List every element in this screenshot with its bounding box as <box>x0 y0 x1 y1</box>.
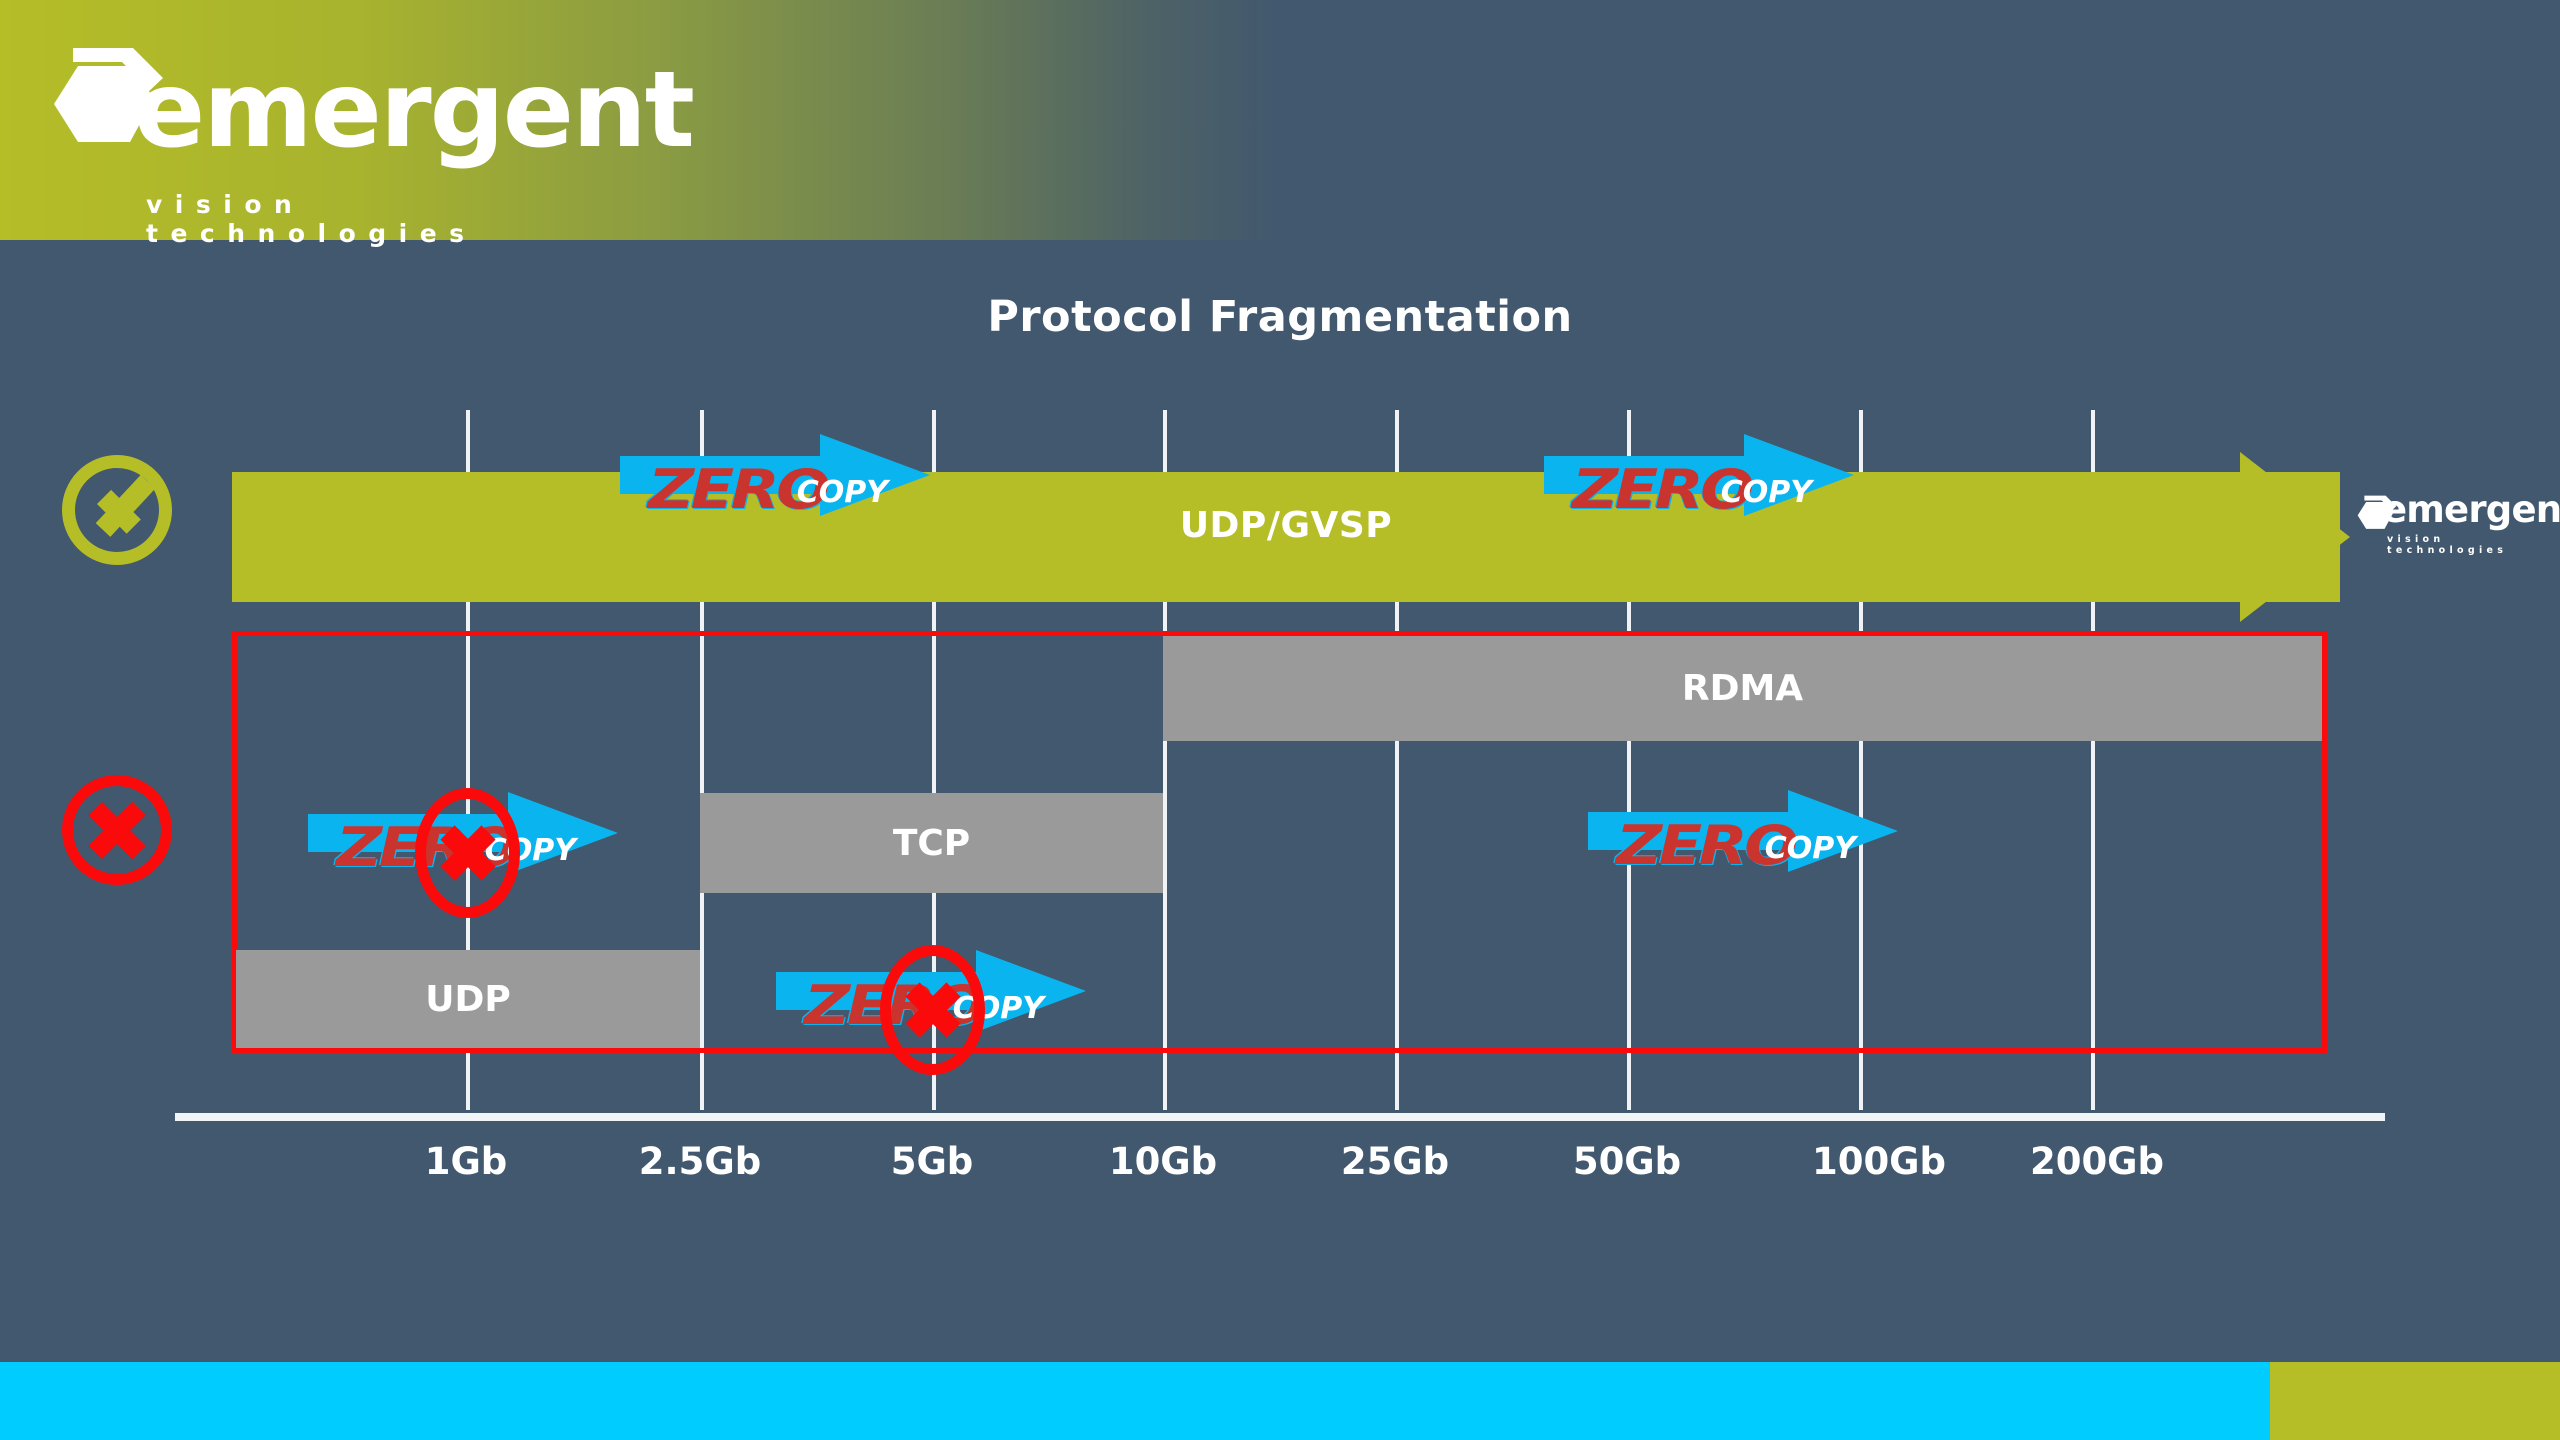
tcp-label: TCP <box>700 793 1163 893</box>
logo-small-wordmark: emergent <box>2382 491 2560 528</box>
footer-bar-green <box>2270 1362 2560 1440</box>
axis-tick-100gb: 100Gb <box>1812 1140 1946 1183</box>
udp-label: UDP <box>236 950 700 1048</box>
zerocopy-badge: ZERO COPY <box>1544 432 1854 518</box>
udp-bar: UDP <box>236 950 700 1048</box>
logo-small-tagline: vision technologies <box>2387 534 2552 556</box>
zerocopy-copy-text: COPY <box>797 475 888 510</box>
axis-line <box>175 1113 2385 1121</box>
rdma-bar: RDMA <box>1163 636 2322 741</box>
footer-bar-cyan <box>0 1362 2270 1440</box>
tcp-bar: TCP <box>700 793 1163 893</box>
axis-tick-200gb: 200Gb <box>2030 1140 2164 1183</box>
zerocopy-copy-text: COPY <box>1721 475 1812 510</box>
rdma-label: RDMA <box>1163 636 2322 741</box>
axis-tick-10gb: 10Gb <box>1109 1140 1217 1183</box>
axis-tick-5gb: 5Gb <box>891 1140 974 1183</box>
zerocopy-copy-text: COPY <box>1765 831 1856 866</box>
axis-tick-1gb: 1Gb <box>425 1140 508 1183</box>
emergent-logo-small: emergent vision technologies <box>2352 487 2552 559</box>
zerocopy-blocked-marker <box>415 788 520 918</box>
x-circle-icon <box>62 775 172 885</box>
check-circle-icon <box>62 455 172 565</box>
axis-tick-25gb: 25Gb <box>1341 1140 1449 1183</box>
zerocopy-badge: ZERO COPY <box>1588 788 1898 874</box>
axis-tick-2-5gb: 2.5Gb <box>639 1140 761 1183</box>
zerocopy-badge: ZERO COPY <box>620 432 930 518</box>
axis-tick-50gb: 50Gb <box>1573 1140 1681 1183</box>
slide-root: emergent vision technologies Protocol Fr… <box>0 0 2560 1440</box>
udp-gvsp-label: UDP/GVSP <box>232 505 2340 546</box>
zerocopy-blocked-marker <box>880 945 985 1075</box>
